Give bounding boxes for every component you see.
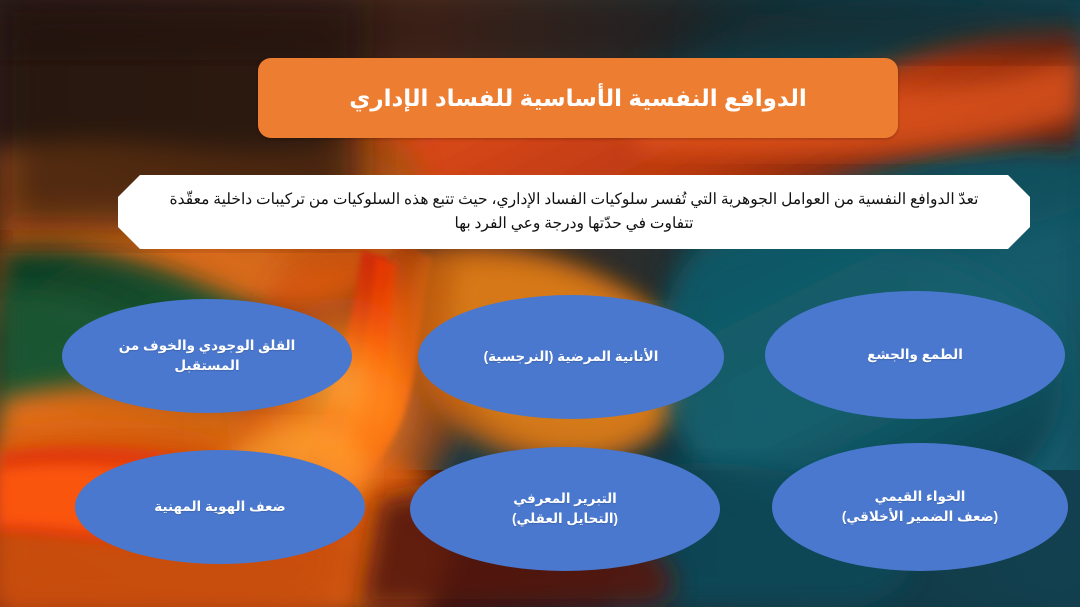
factor-ellipse-4-label: ضعف الهوية المهنية [136, 497, 303, 517]
factor-ellipse-5-label: التبرير المعرفي (التحايل العقلي) [494, 489, 636, 528]
factor-ellipse-2: الأنانية المرضية (النرجسية) [418, 295, 724, 419]
factor-ellipse-3: الطمع والجشع [765, 291, 1065, 419]
factor-ellipse-5: التبرير المعرفي (التحايل العقلي) [410, 447, 720, 571]
description-banner: تعدّ الدوافع النفسية من العوامل الجوهرية… [118, 175, 1030, 249]
factor-ellipse-4: ضعف الهوية المهنية [75, 450, 365, 564]
factor-ellipse-1-label: القلق الوجودي والخوف من المستقبل [101, 336, 313, 375]
factor-ellipse-6-label: الخواء القيمي (ضعف الضمير الأخلاقي) [824, 487, 1016, 526]
slide-canvas: الدوافع النفسية الأساسية للفساد الإداري … [0, 0, 1080, 607]
slide-title-bar: الدوافع النفسية الأساسية للفساد الإداري [258, 58, 898, 138]
factor-ellipse-3-label: الطمع والجشع [849, 345, 981, 365]
factor-ellipse-1: القلق الوجودي والخوف من المستقبل [62, 299, 352, 413]
slide-title: الدوافع النفسية الأساسية للفساد الإداري [331, 84, 824, 113]
factor-ellipse-2-label: الأنانية المرضية (النرجسية) [466, 347, 677, 367]
factor-ellipse-6: الخواء القيمي (ضعف الضمير الأخلاقي) [772, 443, 1068, 571]
description-text: تعدّ الدوافع النفسية من العوامل الجوهرية… [118, 188, 1030, 236]
